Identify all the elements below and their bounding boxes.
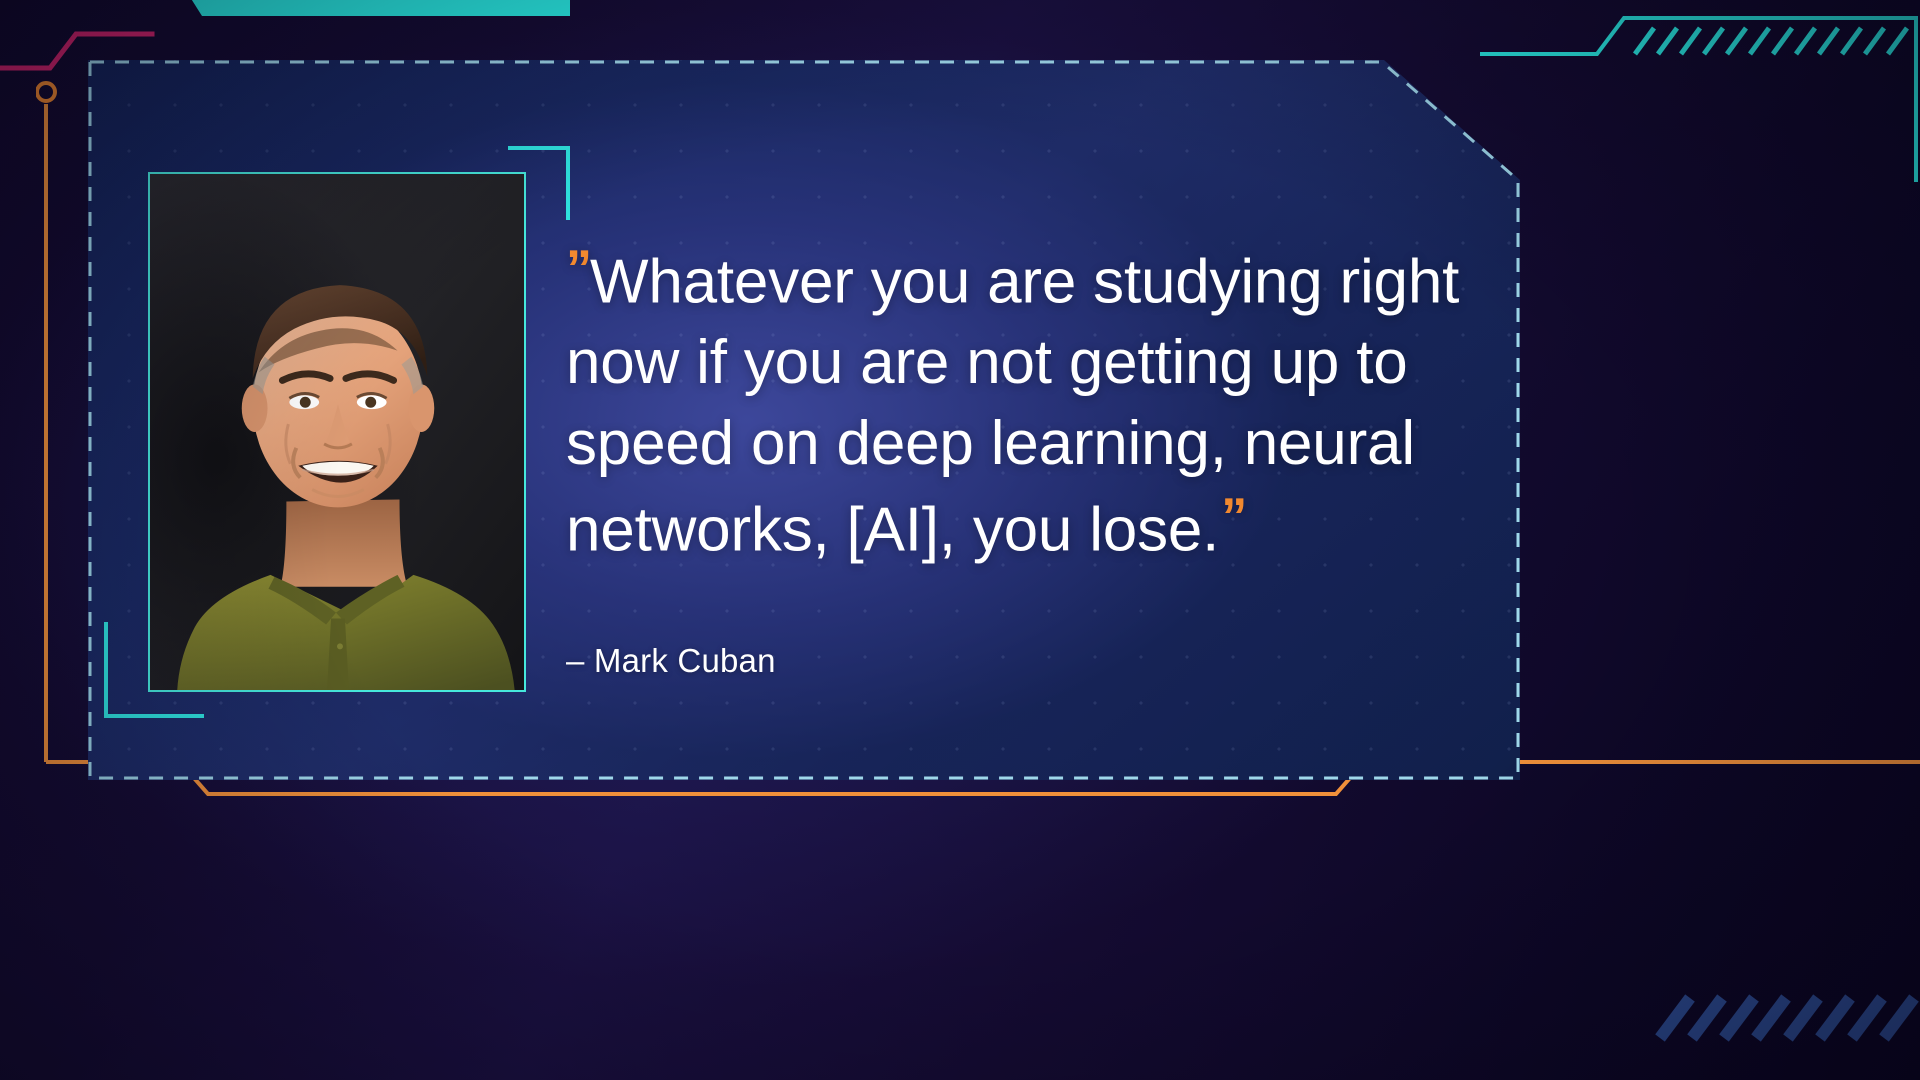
quote-line-2: now if you are not getting up to (566, 328, 1408, 397)
quote-line-1: Whatever you are studying right (590, 248, 1459, 317)
quote-card: ”Whatever you are studying rightnow if y… (88, 60, 1520, 780)
open-quote-mark: ” (566, 240, 590, 298)
photo-corner-bracket-bottom-left (104, 622, 204, 718)
portrait-figure (148, 172, 526, 692)
slide-canvas: ”Whatever you are studying rightnow if y… (0, 0, 1920, 1080)
photo-corner-bracket-top-right (508, 146, 570, 220)
quote-block: ”Whatever you are studying rightnow if y… (566, 236, 1486, 680)
cyan-top-tab (178, 0, 570, 16)
close-quote-mark: ” (1221, 488, 1245, 546)
orange-hatch-stripes (1360, 964, 1920, 1054)
quote-attribution: – Mark Cuban (566, 642, 1486, 680)
quote-line-4: networks, [AI], you lose. (566, 496, 1219, 565)
quote-text: ”Whatever you are studying rightnow if y… (566, 236, 1486, 572)
quote-line-3: speed on deep learning, neural (566, 409, 1415, 478)
portrait-photo (148, 172, 526, 692)
orange-circle-node (37, 83, 55, 101)
